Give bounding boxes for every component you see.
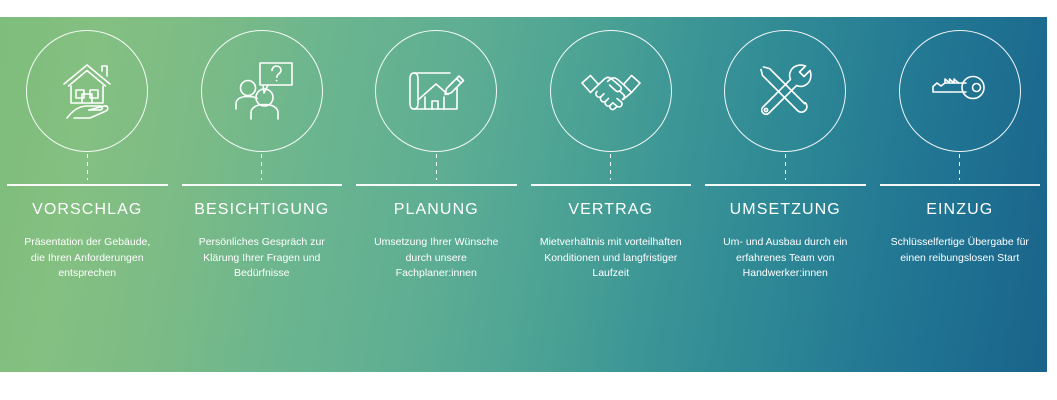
step-circle xyxy=(375,30,497,152)
process-infographic: VORSCHLAG Präsentation der Gebäude, die … xyxy=(0,0,1057,400)
key-icon xyxy=(925,56,995,126)
step-besichtigung[interactable]: BESICHTIGUNG Persönliches Gespräch zur K… xyxy=(175,17,350,372)
step-circle xyxy=(724,30,846,152)
dashed-connector xyxy=(610,154,611,180)
dashed-connector xyxy=(785,154,786,180)
tools-wrench-screwdriver-icon xyxy=(750,56,820,126)
step-title: PLANUNG xyxy=(394,202,479,218)
step-title: VERTRAG xyxy=(568,202,653,218)
step-einzug[interactable]: EINZUG Schlüsselfertige Übergabe für ein… xyxy=(873,17,1048,372)
step-circle xyxy=(26,30,148,152)
timeline-rule xyxy=(356,184,517,186)
step-vorschlag[interactable]: VORSCHLAG Präsentation der Gebäude, die … xyxy=(0,17,175,372)
gradient-banner: VORSCHLAG Präsentation der Gebäude, die … xyxy=(0,17,1047,372)
step-circle xyxy=(201,30,323,152)
steps-container: VORSCHLAG Präsentation der Gebäude, die … xyxy=(0,17,1047,372)
people-question-bubble-icon xyxy=(227,56,297,126)
timeline-rule xyxy=(182,184,343,186)
timeline-rule xyxy=(880,184,1041,186)
step-vertrag[interactable]: VERTRAG Mietverhältnis mit vorteilhaften… xyxy=(524,17,699,372)
step-title: UMSETZUNG xyxy=(730,202,841,218)
step-description: Mietverhältnis mit vorteilhaften Konditi… xyxy=(540,235,682,282)
dashed-connector xyxy=(87,154,88,180)
step-description: Persönliches Gespräch zur Klärung Ihrer … xyxy=(191,235,333,282)
dashed-connector xyxy=(959,154,960,180)
step-planung[interactable]: PLANUNG Umsetzung Ihrer Wünsche durch un… xyxy=(349,17,524,372)
step-description: Präsentation der Gebäude, die Ihren Anfo… xyxy=(16,235,158,282)
timeline-rule xyxy=(705,184,866,186)
timeline-rule xyxy=(7,184,168,186)
house-in-hand-icon xyxy=(52,56,122,126)
step-title: EINZUG xyxy=(926,202,993,218)
step-description: Um- und Ausbau durch ein erfahrenes Team… xyxy=(714,235,856,282)
timeline-rule xyxy=(531,184,692,186)
step-circle xyxy=(899,30,1021,152)
handshake-icon xyxy=(576,56,646,126)
step-umsetzung[interactable]: UMSETZUNG Um- und Ausbau durch ein erfah… xyxy=(698,17,873,372)
blueprint-pencil-icon xyxy=(401,56,471,126)
dashed-connector xyxy=(436,154,437,180)
step-title: VORSCHLAG xyxy=(32,202,142,218)
step-title: BESICHTIGUNG xyxy=(194,202,329,218)
step-circle xyxy=(550,30,672,152)
dashed-connector xyxy=(261,154,262,180)
step-description: Schlüsselfertige Übergabe für einen reib… xyxy=(889,235,1031,266)
step-description: Umsetzung Ihrer Wünsche durch unsere Fac… xyxy=(365,235,507,282)
